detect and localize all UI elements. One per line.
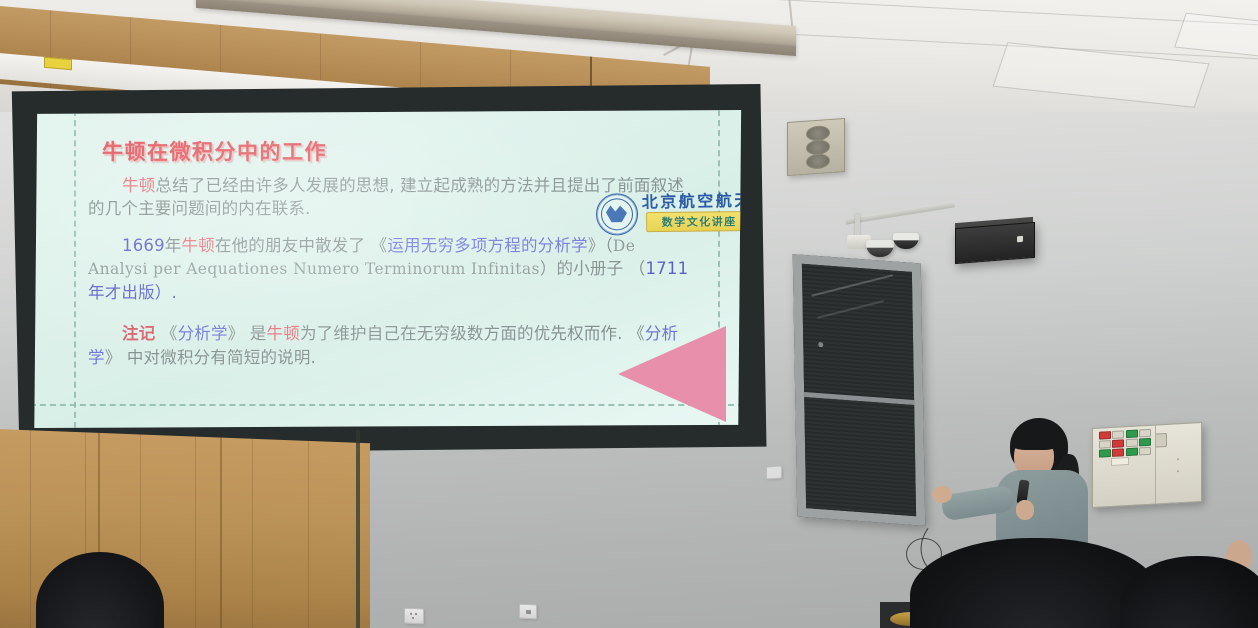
text-run: 》 是: [228, 324, 267, 343]
wall-outlet: [404, 608, 424, 625]
text-run: 《: [155, 324, 177, 343]
text-run: 》（: [588, 236, 613, 255]
slide-paragraph-1: 牛顿总结了已经由许多人发展的思想, 建立起成熟的方法并且提出了前面叙述的几个主要…: [88, 174, 696, 221]
text-run: 牛顿: [122, 176, 155, 195]
slide-content: 牛顿在微积分中的工作 牛顿总结了已经由许多人发展的思想, 建立起成熟的方法并且提…: [88, 124, 696, 402]
text-run: 年才出版）.: [88, 283, 177, 302]
window: [793, 254, 926, 526]
presenter-hand: [932, 486, 952, 503]
panel-label: [1111, 457, 1129, 466]
status-led-icon: [1017, 236, 1023, 242]
ceiling-panel: [993, 42, 1210, 108]
electrical-panel: [1092, 422, 1202, 508]
presenter-hand: [1016, 500, 1034, 520]
wall-outlet: [766, 466, 782, 480]
slide-paragraph-2: 1669年牛顿在他的朋友中散发了 《运用无穷多项方程的分析学》（De Analy…: [88, 234, 696, 304]
presenter-bangs: [1011, 430, 1059, 450]
wainscot-edge: [356, 430, 360, 628]
screen-surface: 北京航空航天大学 数学文化讲座 牛顿在微积分中的工作 牛顿总结了已经由许多人发展…: [30, 110, 744, 428]
projection-screen: 北京航空航天大学 数学文化讲座 牛顿在微积分中的工作 牛顿总结了已经由许多人发展…: [8, 84, 768, 454]
text-run: 分析学: [178, 324, 228, 343]
lecture-photo-scene: 北京航空航天大学 数学文化讲座 牛顿在微积分中的工作 牛顿总结了已经由许多人发展…: [0, 0, 1258, 628]
wall-outlet: [519, 604, 537, 620]
presentation-slide: 北京航空航天大学 数学文化讲座 牛顿在微积分中的工作 牛顿总结了已经由许多人发展…: [30, 110, 744, 428]
slide-dashed-border-left: [74, 110, 76, 428]
text-run: 年: [165, 236, 182, 255]
text-run: 总结了已经由许多人发展的思想, 建立起成熟的方法并且提出了前面叙述的几个主要问题…: [88, 176, 684, 218]
text-run: 牛顿: [182, 236, 215, 255]
text-run: 》 中对微积分有简短的说明.: [105, 348, 316, 367]
text-run: 运用无穷多项方程的分析学: [387, 236, 587, 255]
projector-box: [955, 222, 1035, 264]
wall-speaker: [787, 118, 845, 176]
text-run-note: 注记: [122, 324, 155, 343]
wall-sticker: [44, 57, 72, 70]
text-run: 牛顿: [267, 324, 300, 343]
text-run: 1711: [645, 259, 688, 278]
text-run: 1669: [122, 236, 165, 255]
panel-button-grid: [1099, 429, 1151, 458]
panel-handle: [1155, 433, 1167, 448]
slide-title: 牛顿在微积分中的工作: [102, 136, 696, 166]
slide-paragraph-3: 注记 《分析学》 是牛顿为了维护自己在无穷级数方面的优先权而作. 《分析学》 中…: [88, 322, 696, 369]
ceiling-panel: [1174, 13, 1258, 60]
text-run: ）的小册子 （: [540, 259, 646, 278]
text-run: 为了维护自己在无穷级数方面的优先权而作. 《: [300, 324, 645, 343]
window-handle: [818, 342, 823, 347]
text-run: 在他的朋友中散发了 《: [215, 236, 387, 255]
